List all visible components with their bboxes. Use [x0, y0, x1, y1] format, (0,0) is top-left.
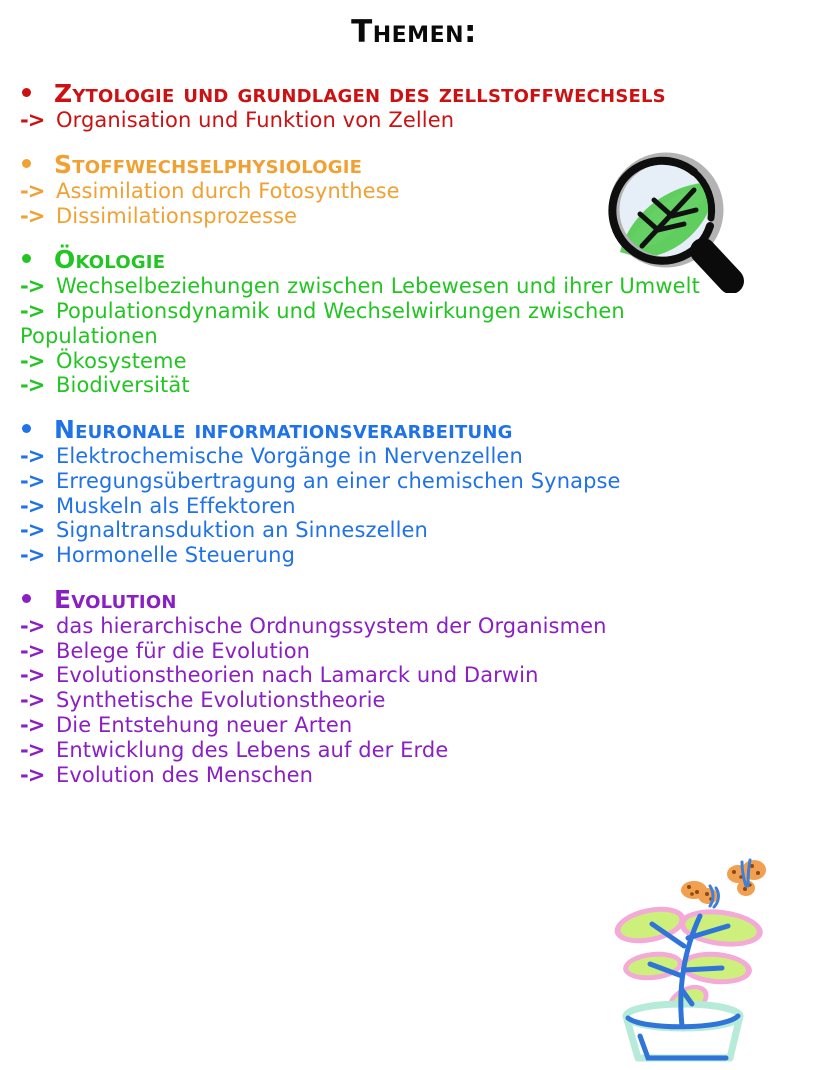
topic-heading-label: Ökologie [54, 246, 165, 273]
bullet-dot-icon [22, 159, 31, 168]
arrow-icon: -> [20, 108, 56, 133]
topic-line-label: Belege für die Evolution [56, 639, 310, 664]
arrow-icon: -> [20, 614, 56, 639]
topic-line: ->Organisation und Funktion von Zellen [0, 108, 828, 133]
topic-line-label: Dissimilationsprozesse [56, 204, 297, 229]
topic-line: ->Evolutionstheorien nach Lamarck und Da… [0, 663, 828, 688]
arrow-icon: -> [20, 349, 56, 374]
page-title: Themen: [0, 14, 828, 50]
topic-line: ->Signaltransduktion an Sinneszellen [0, 518, 828, 543]
topic-line-label: Populationen [20, 324, 158, 349]
topic-line-label: Entwicklung des Lebens auf der Erde [56, 738, 448, 763]
arrow-icon: -> [20, 663, 56, 688]
topic-line: ->Belege für die Evolution [0, 639, 828, 664]
topic-line: ->Erregungsübertragung an einer chemisch… [0, 469, 828, 494]
topic-line: Populationen [0, 324, 828, 349]
arrow-icon: -> [20, 444, 56, 469]
bullet-dot-icon [22, 424, 31, 433]
worksheet-page: Themen: Zytologie und Grundlagen des Zel… [0, 0, 828, 1070]
topic-line: ->Synthetische Evolutionstheorie [0, 688, 828, 713]
topic-line-label: Synthetische Evolutionstheorie [56, 688, 386, 713]
bullet-dot-icon [22, 88, 31, 97]
arrow-icon: -> [20, 688, 56, 713]
topic-heading-label: Evolution [54, 586, 177, 613]
topic-heading-label: Neuronale Informationsverarbeitung [54, 416, 513, 443]
arrow-icon: -> [20, 738, 56, 763]
arrow-icon: -> [20, 179, 56, 204]
topic-line: ->Muskeln als Effektoren [0, 494, 828, 519]
magnifier-leaf-icon [598, 148, 748, 293]
topic-line-label: Muskeln als Effektoren [56, 494, 296, 519]
topic-block: Neuronale Informationsverarbeitung->Elek… [0, 416, 828, 568]
arrow-icon: -> [20, 763, 56, 788]
arrow-icon: -> [20, 204, 56, 229]
arrow-icon: -> [20, 299, 56, 324]
topic-line-label: Evolutionstheorien nach Lamarck und Darw… [56, 663, 539, 688]
arrow-icon: -> [20, 713, 56, 738]
topic-block: Zytologie und Grundlagen des Zellstoffwe… [0, 80, 828, 133]
topic-heading: Evolution [0, 586, 828, 613]
topic-line-label: Elektrochemische Vorgänge in Nervenzelle… [56, 444, 523, 469]
arrow-icon: -> [20, 373, 56, 398]
topic-line: ->das hierarchische Ordnungssystem der O… [0, 614, 828, 639]
topic-line: ->Die Entstehung neuer Arten [0, 713, 828, 738]
arrow-icon: -> [20, 469, 56, 494]
arrow-icon: -> [20, 274, 56, 299]
topic-line-label: Signaltransduktion an Sinneszellen [56, 518, 428, 543]
bullet-dot-icon [22, 254, 31, 263]
arrow-icon: -> [20, 543, 56, 568]
topic-line-label: Organisation und Funktion von Zellen [56, 108, 454, 133]
topic-line: ->Ökosysteme [0, 349, 828, 374]
topic-heading-label: Zytologie und Grundlagen des Zellstoffwe… [54, 80, 666, 107]
arrow-icon: -> [20, 494, 56, 519]
arrow-icon: -> [20, 518, 56, 543]
topic-line: ->Elektrochemische Vorgänge in Nervenzel… [0, 444, 828, 469]
bullet-dot-icon [22, 594, 31, 603]
topic-line-label: Ökosysteme [56, 349, 187, 374]
topic-heading: Zytologie und Grundlagen des Zellstoffwe… [0, 80, 828, 107]
topic-line-label: Evolution des Menschen [56, 763, 313, 788]
topic-line: ->Hormonelle Steuerung [0, 543, 828, 568]
topic-line: ->Biodiversität [0, 373, 828, 398]
arrow-icon: -> [20, 639, 56, 664]
topic-line: ->Entwicklung des Lebens auf der Erde [0, 738, 828, 763]
topic-line: ->Populationsdynamik und Wechselwirkunge… [0, 299, 828, 324]
topic-line-label: Die Entstehung neuer Arten [56, 713, 352, 738]
topic-heading-label: Stoffwechselphysiologie [54, 151, 362, 178]
topic-line-label: Biodiversität [56, 373, 190, 398]
topic-heading: Neuronale Informationsverarbeitung [0, 416, 828, 443]
topic-block: Evolution->das hierarchische Ordnungssys… [0, 586, 828, 787]
topic-line-label: Assimilation durch Fotosynthese [56, 179, 400, 204]
topic-line: ->Evolution des Menschen [0, 763, 828, 788]
topic-line-label: Populationsdynamik und Wechselwirkungen … [56, 299, 625, 324]
topic-line-label: Erregungsübertragung an einer chemischen… [56, 469, 621, 494]
topic-line-label: das hierarchische Ordnungssystem der Org… [56, 614, 607, 639]
topic-line-label: Hormonelle Steuerung [56, 543, 295, 568]
potted-plant-icon [598, 858, 788, 1063]
